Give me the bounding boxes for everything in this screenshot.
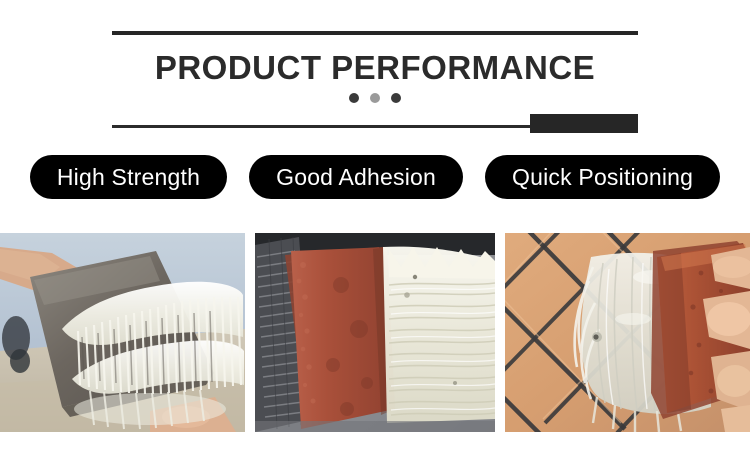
gallery-gap-1 [245, 233, 255, 432]
badge-label: Good Adhesion [276, 164, 436, 191]
badge-label: Quick Positioning [512, 164, 693, 191]
header-top-rule [112, 31, 638, 35]
gallery-image-trowel-tack-test[interactable] [0, 233, 245, 432]
badge-good-adhesion[interactable]: Good Adhesion [249, 155, 463, 199]
badge-quick-positioning[interactable]: Quick Positioning [485, 155, 720, 199]
header-bottom-rule [112, 125, 532, 128]
gallery-image-brick-on-tiled-wall[interactable] [505, 233, 750, 432]
header-section: PRODUCT PERFORMANCE [0, 0, 750, 140]
header-accent-block [530, 114, 638, 133]
header-dot-row [0, 93, 750, 103]
product-image-gallery [0, 233, 750, 432]
decorative-dot-3 [391, 93, 401, 103]
gallery-gap-2 [495, 233, 505, 432]
badge-high-strength[interactable]: High Strength [30, 155, 227, 199]
decorative-dot-1 [349, 93, 359, 103]
badge-label: High Strength [57, 164, 200, 191]
feature-badge-row: High Strength Good Adhesion Quick Positi… [0, 154, 750, 200]
gallery-image-brick-adhesive-string-test[interactable] [255, 233, 495, 432]
decorative-dot-2 [370, 93, 380, 103]
page-title: PRODUCT PERFORMANCE [0, 48, 750, 88]
